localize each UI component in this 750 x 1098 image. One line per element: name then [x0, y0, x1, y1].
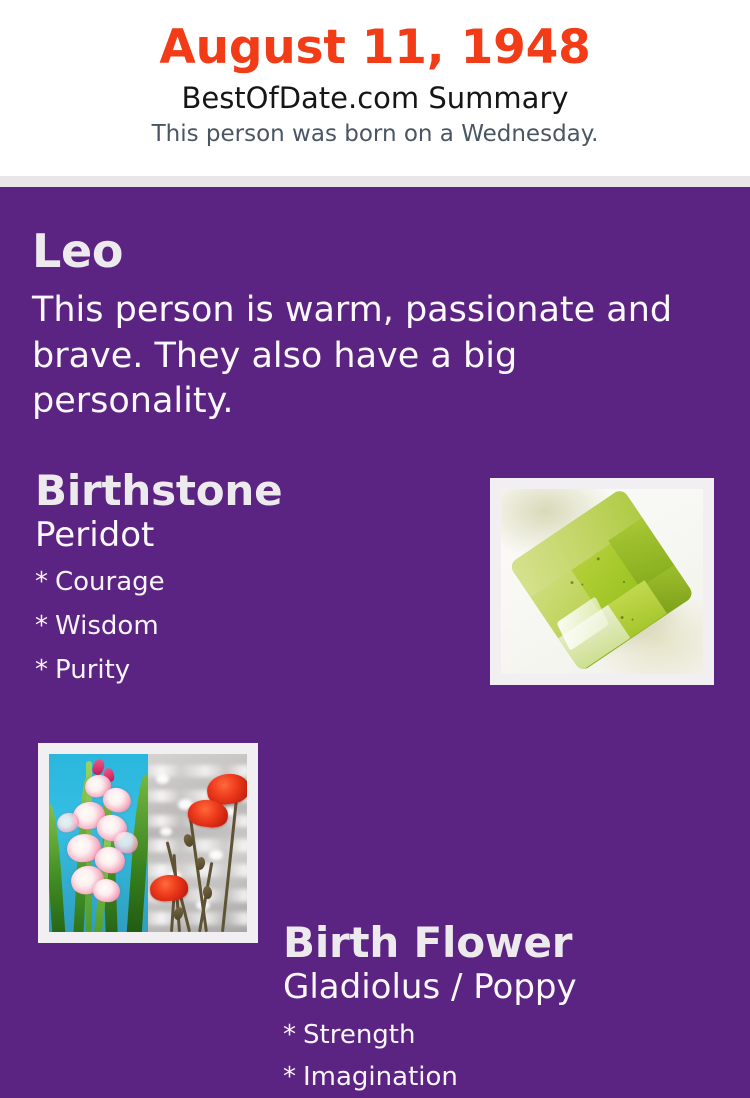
asterisk-icon: *: [35, 613, 55, 639]
list-item-label: Strength: [303, 1020, 415, 1050]
gem-scene: [501, 489, 703, 674]
page-title-date: August 11, 1948: [0, 0, 750, 75]
bokeh-dot: [160, 827, 172, 836]
birth-day-of-week-text: This person was born on a Wednesday.: [0, 115, 750, 147]
zodiac-description: This person is warm, passionate and brav…: [32, 274, 682, 425]
summary-card: August 11, 1948 BestOfDate.com Summary T…: [0, 0, 750, 1000]
list-item: *Wisdom: [35, 604, 465, 648]
bokeh-band: [148, 912, 247, 924]
birth-flower-photo-frame: [38, 743, 258, 943]
birth-flower-section: Birth Flower Gladiolus / Poppy *Strength…: [283, 922, 743, 1098]
asterisk-icon: *: [283, 1022, 303, 1048]
asterisk-icon: *: [35, 657, 55, 683]
list-item-label: Wisdom: [55, 611, 159, 641]
gladiolus-panel: [49, 754, 148, 932]
poppy-panel: [148, 754, 247, 932]
list-item: *Courage: [35, 560, 465, 604]
list-item: *Imagination: [283, 1056, 743, 1098]
peridot-crystal: [509, 489, 695, 672]
list-item-label: Imagination: [303, 1062, 458, 1092]
bokeh-dot: [209, 850, 223, 860]
header-divider: [0, 176, 750, 187]
asterisk-icon: *: [283, 1064, 303, 1090]
birthstone-name: Peridot: [35, 512, 465, 554]
flower-split-panels: [49, 754, 247, 932]
header: August 11, 1948 BestOfDate.com Summary T…: [0, 0, 750, 176]
asterisk-icon: *: [35, 569, 55, 595]
birthstone-section: Birthstone Peridot *Courage *Wisdom *Pur…: [35, 470, 465, 692]
birthstone-photo: [501, 489, 703, 674]
zodiac-section: Leo This person is warm, passionate and …: [32, 228, 692, 425]
birthstone-heading: Birthstone: [35, 470, 465, 512]
bokeh-dot: [156, 774, 169, 784]
list-item-label: Purity: [55, 655, 130, 685]
birthstone-trait-list: *Courage *Wisdom *Purity: [35, 554, 465, 692]
birth-flower-name: Gladiolus / Poppy: [283, 964, 743, 1006]
birth-flower-photo: [49, 754, 247, 932]
zodiac-sign-name: Leo: [32, 228, 692, 274]
list-item: *Strength: [283, 1014, 743, 1056]
birth-flower-trait-list: *Strength *Imagination: [283, 1006, 743, 1098]
list-item-label: Courage: [55, 567, 165, 597]
birth-flower-heading: Birth Flower: [283, 922, 743, 964]
list-item: *Purity: [35, 648, 465, 692]
birthstone-photo-frame: [490, 478, 714, 685]
site-summary-label: BestOfDate.com Summary: [0, 75, 750, 115]
